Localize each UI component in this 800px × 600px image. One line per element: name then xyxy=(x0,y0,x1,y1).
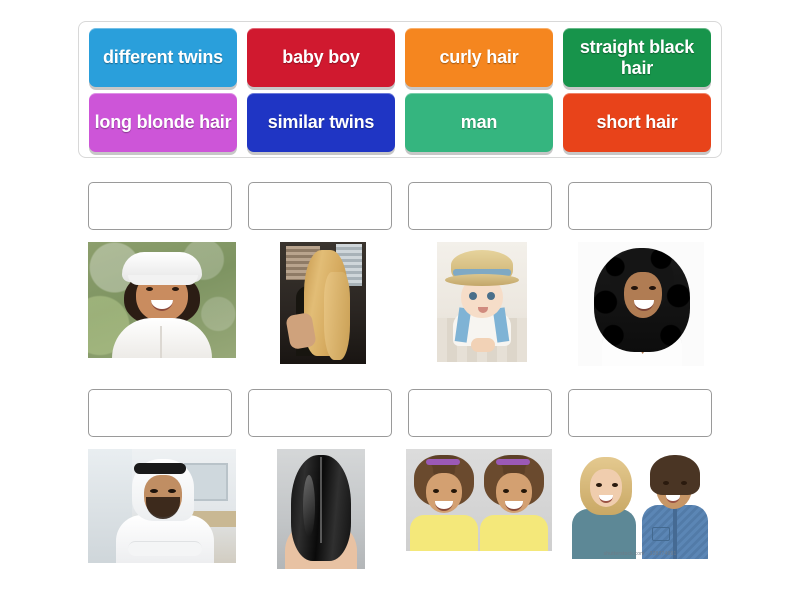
dropzone-7[interactable] xyxy=(408,389,552,437)
image-long-straight-black-hair xyxy=(277,449,365,569)
dropzone-3[interactable] xyxy=(408,182,552,230)
image-similar-twin-girls xyxy=(406,449,552,551)
answer-row-1-dropzones xyxy=(80,182,720,230)
tile-different-twins[interactable]: different twins xyxy=(89,28,237,87)
answer-row-1-images xyxy=(80,242,720,360)
image-cell-5 xyxy=(88,449,236,567)
tile-long-blonde-hair[interactable]: long blonde hair xyxy=(89,93,237,152)
tile-similar-twins[interactable]: similar twins xyxy=(247,93,395,152)
image-cell-1 xyxy=(88,242,236,360)
tile-man[interactable]: man xyxy=(405,93,553,152)
image-cell-6 xyxy=(252,449,390,567)
image-cell-4 xyxy=(569,242,712,360)
image-cell-7 xyxy=(406,449,552,567)
image-different-twins: shutterstock.com · 328274991 xyxy=(568,449,712,559)
dropzone-2[interactable] xyxy=(248,182,392,230)
image-cell-8: shutterstock.com · 328274991 xyxy=(568,449,712,567)
tile-bank-row-1: different twins baby boy curly hair stra… xyxy=(84,28,716,87)
tile-baby-boy[interactable]: baby boy xyxy=(247,28,395,87)
dropzone-5[interactable] xyxy=(88,389,232,437)
image-baby-straw-hat xyxy=(437,242,527,362)
tile-straight-black-hair[interactable]: straight black hair xyxy=(563,28,711,87)
image-long-blonde-hair-woman xyxy=(280,242,366,364)
image-curly-black-hair-woman xyxy=(578,242,704,366)
image-cell-2 xyxy=(252,242,395,360)
dropzone-1[interactable] xyxy=(88,182,232,230)
tile-bank-row-2: long blonde hair similar twins man short… xyxy=(84,93,716,152)
image-cell-3 xyxy=(411,242,554,360)
tile-bank: different twins baby boy curly hair stra… xyxy=(78,21,722,158)
image-man-white-kandura xyxy=(88,449,236,563)
dropzone-4[interactable] xyxy=(568,182,712,230)
dropzone-6[interactable] xyxy=(248,389,392,437)
tile-curly-hair[interactable]: curly hair xyxy=(405,28,553,87)
image-watermark: shutterstock.com · 328274991 xyxy=(568,551,712,557)
answer-row-2-images: shutterstock.com · 328274991 xyxy=(80,449,720,567)
tile-short-hair[interactable]: short hair xyxy=(563,93,711,152)
image-smiling-boy-white-cap xyxy=(88,242,236,358)
dropzone-8[interactable] xyxy=(568,389,712,437)
answer-row-2-dropzones xyxy=(80,389,720,437)
